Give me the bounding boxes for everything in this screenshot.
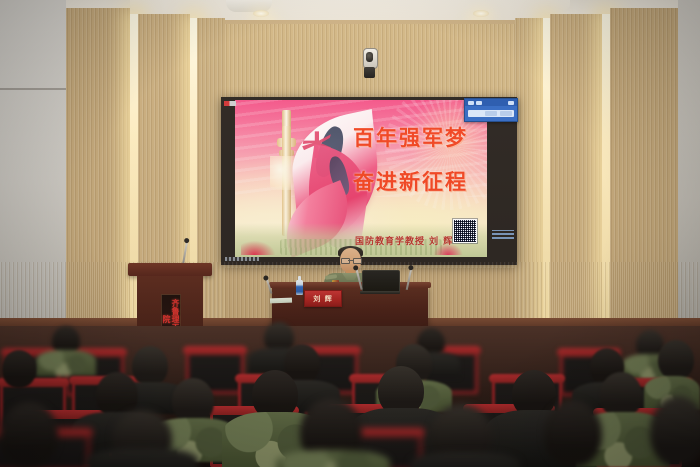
slide-content: 百年强军梦 奋进新征程 国防教育学教授 刘 辉 bbox=[235, 100, 487, 257]
water-bottle-icon bbox=[296, 280, 303, 295]
ceiling-downlight bbox=[253, 10, 269, 17]
screen-bezel-label bbox=[225, 257, 259, 261]
slide-byline: 国防教育学教授 刘 辉 bbox=[355, 234, 453, 247]
audience-shoulders bbox=[276, 450, 390, 467]
audience-head bbox=[2, 350, 36, 388]
audience-shoulders bbox=[410, 452, 520, 467]
audience-head-foreground bbox=[0, 402, 58, 467]
glasses-icon bbox=[341, 258, 360, 262]
wall-mounted-camera-icon bbox=[362, 48, 377, 78]
audience-head bbox=[132, 346, 168, 386]
projection-dialog[interactable] bbox=[464, 98, 518, 122]
nameplate: 刘 辉 bbox=[304, 290, 342, 307]
audience-head bbox=[658, 340, 694, 380]
ceiling-downlight bbox=[473, 10, 489, 17]
podium-body: 齐鲁理工学院 bbox=[137, 276, 203, 329]
screen-bezel-right-text bbox=[492, 230, 514, 239]
audience-head-foreground bbox=[650, 396, 700, 467]
podium: 齐鲁理工学院 bbox=[128, 263, 212, 329]
podium-top bbox=[128, 263, 212, 276]
slide-title-line-1: 百年强军梦 bbox=[353, 122, 468, 152]
laptop[interactable] bbox=[360, 270, 400, 294]
audience-shoulders bbox=[86, 448, 198, 467]
nameplate-text: 刘 辉 bbox=[305, 294, 341, 304]
screen-input-indicator bbox=[224, 101, 236, 106]
qr-code-icon bbox=[453, 219, 477, 243]
auditorium-photo: 百年强军梦 奋进新征程 国防教育学教授 刘 辉 齐鲁理工学院 bbox=[0, 0, 700, 467]
audience-head-foreground bbox=[544, 400, 602, 467]
audience-shoulders bbox=[36, 350, 96, 376]
projection-screen: 百年强军梦 奋进新征程 国防教育学教授 刘 辉 bbox=[221, 97, 517, 265]
desk-papers bbox=[270, 298, 292, 304]
slide-flourish-left bbox=[241, 241, 275, 255]
slide-title-line-2: 奋进新征程 bbox=[353, 166, 468, 196]
